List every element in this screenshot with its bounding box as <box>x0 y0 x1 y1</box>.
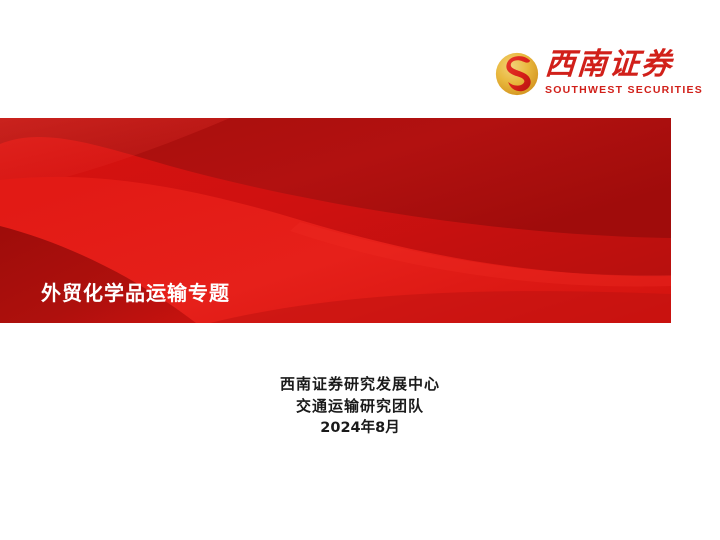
title-slide: 西南证券 SOUTHWEST SECURITIES <box>0 0 720 540</box>
southwest-securities-swirl-mark-icon <box>495 52 539 96</box>
banner-subtitle: 外贸化学品运输专题 <box>41 277 230 306</box>
logo-text: 西南证券 SOUTHWEST SECURITIES <box>545 48 680 104</box>
title-banner: 外贸化学品运输专题 小而美，景气度稳步提升 <box>0 118 671 323</box>
footer-line-institute: 西南证券研究发展中心 <box>0 373 720 395</box>
footer-line-team: 交通运输研究团队 <box>0 395 720 417</box>
footer-credits: 西南证券研究发展中心 交通运输研究团队 2024年8月 <box>0 373 720 439</box>
footer-line-date: 2024年8月 <box>0 417 720 439</box>
logo-company-name-cn: 西南证券 <box>544 48 681 82</box>
company-logo: 西南证券 SOUTHWEST SECURITIES <box>495 48 680 106</box>
logo-company-name-en: SOUTHWEST SECURITIES <box>545 83 680 97</box>
